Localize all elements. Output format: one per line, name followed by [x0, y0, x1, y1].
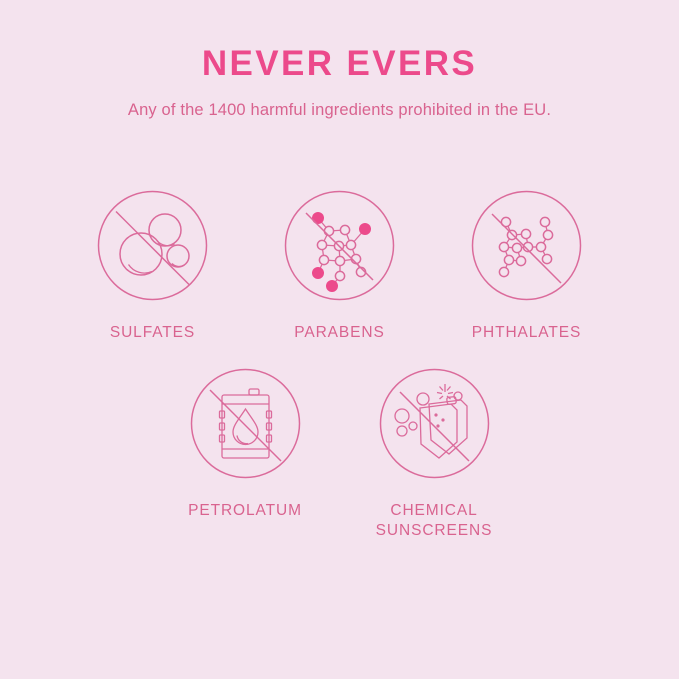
ingredient-label: CHEMICAL SUNSCREENS	[376, 501, 493, 541]
ingredient-row-2: PETROLATUM	[0, 368, 679, 541]
ingredient-grid: SULFATES	[0, 190, 679, 540]
ingredient-label: PARABENS	[294, 323, 384, 343]
ingredient-item-phthalates: PHTHALATES	[471, 190, 582, 343]
no-sulfates-bubbles-icon	[97, 190, 208, 301]
ingredient-item-chemical-sunscreens: CHEMICAL SUNSCREENS	[379, 368, 490, 541]
ingredient-item-petrolatum: PETROLATUM	[190, 368, 301, 521]
no-petrolatum-barrel-icon	[190, 368, 301, 479]
ingredient-row-1: SULFATES	[0, 190, 679, 343]
page-subtitle: Any of the 1400 harmful ingredients proh…	[0, 100, 679, 121]
page-title: NEVER EVERS	[0, 45, 679, 84]
ingredient-label: PETROLATUM	[188, 501, 302, 521]
ingredient-label: PHTHALATES	[472, 323, 582, 343]
ingredient-item-sulfates: SULFATES	[97, 190, 208, 343]
never-evers-poster: NEVER EVERS Any of the 1400 harmful ingr…	[0, 0, 679, 679]
no-parabens-molecule-icon	[284, 190, 395, 301]
no-chemical-sunscreens-icon	[379, 368, 490, 479]
no-phthalates-molecule-icon	[471, 190, 582, 301]
ingredient-label: SULFATES	[110, 323, 195, 343]
ingredient-item-parabens: PARABENS	[284, 190, 395, 343]
